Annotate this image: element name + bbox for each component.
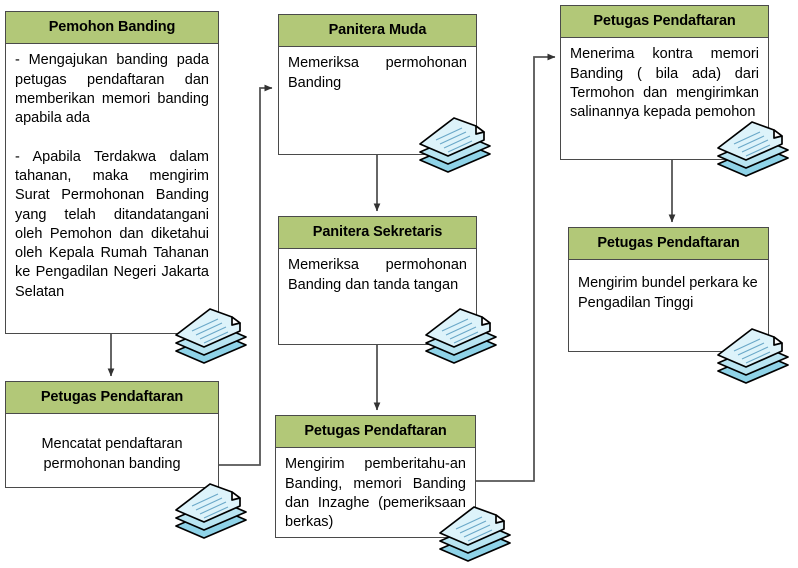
document-stack-icon	[170, 480, 252, 542]
node-petugas-pendaftaran-mencatat-body: Mencatat pendaftaran permohonan banding	[6, 414, 218, 480]
node-panitera-sekretaris-body: Memeriksa permohonan Banding dan tanda t…	[279, 249, 476, 301]
node-petugas-pendaftaran-kontra-memori[interactable]: Petugas Pendaftaran Menerima kontra memo…	[560, 5, 769, 160]
node-panitera-muda-header: Panitera Muda	[279, 15, 476, 47]
node-petugas-pendaftaran-pemberitahuan-body: Mengirim pemberitahu-an Banding, memori …	[276, 448, 475, 538]
flowchart-canvas: Pemohon Banding - Mengajukan banding pad…	[0, 0, 798, 568]
edge-pemberitahuan-to-kontra-memori	[476, 57, 555, 481]
node-petugas-pendaftaran-kontra-memori-body: Menerima kontra memori Banding ( bila ad…	[561, 38, 768, 128]
node-petugas-pendaftaran-pemberitahuan-header: Petugas Pendaftaran	[276, 416, 475, 448]
node-panitera-muda[interactable]: Panitera Muda Memeriksa permohonan Bandi…	[278, 14, 477, 155]
node-petugas-pendaftaran-mencatat[interactable]: Petugas Pendaftaran Mencatat pendaftaran…	[5, 381, 219, 488]
node-petugas-pendaftaran-pemberitahuan[interactable]: Petugas Pendaftaran Mengirim pemberitahu…	[275, 415, 476, 538]
node-panitera-sekretaris-header: Panitera Sekretaris	[279, 217, 476, 249]
node-petugas-pendaftaran-bundel[interactable]: Petugas Pendaftaran Mengirim bundel perk…	[568, 227, 769, 352]
node-petugas-pendaftaran-bundel-body: Mengirim bundel perkara ke Pengadilan Ti…	[569, 260, 768, 319]
node-panitera-sekretaris[interactable]: Panitera Sekretaris Memeriksa permohonan…	[278, 216, 477, 345]
node-panitera-muda-body: Memeriksa permohonan Banding	[279, 47, 476, 99]
node-pemohon-banding-body: - Mengajukan banding pada petugas pendaf…	[6, 44, 218, 308]
node-pemohon-banding-header: Pemohon Banding	[6, 12, 218, 44]
node-petugas-pendaftaran-kontra-memori-header: Petugas Pendaftaran	[561, 6, 768, 38]
node-petugas-pendaftaran-mencatat-header: Petugas Pendaftaran	[6, 382, 218, 414]
node-pemohon-banding[interactable]: Pemohon Banding - Mengajukan banding pad…	[5, 11, 219, 334]
edge-mencatat-to-panitera-muda	[218, 88, 272, 465]
node-petugas-pendaftaran-bundel-header: Petugas Pendaftaran	[569, 228, 768, 260]
